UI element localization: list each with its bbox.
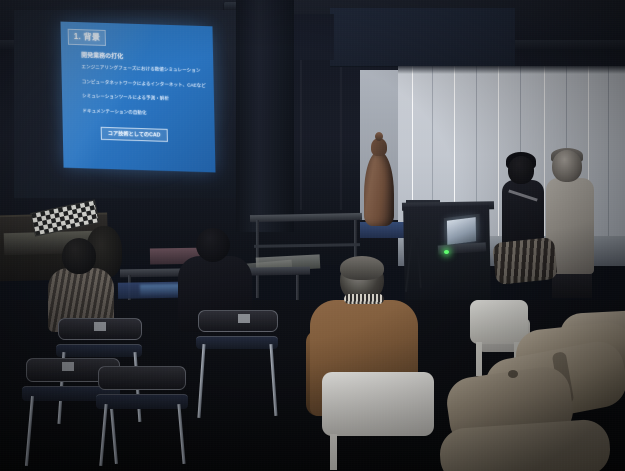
chair-leg: [330, 434, 337, 470]
chair-tag: [238, 314, 250, 323]
chair-tag: [94, 322, 106, 331]
chair-tag: [62, 362, 74, 371]
photo-scene: 1. 背景 開発業務の打化 エンジニアリングフェーズにおける数値シミュレーション…: [0, 0, 625, 471]
folding-chair-seat: [96, 394, 188, 409]
power-led-icon: [444, 250, 449, 254]
person-hair: [340, 256, 384, 280]
white-chair: [470, 300, 528, 344]
slide-bullet: コンピュータネットワークによるインターネット、CAEなど: [82, 80, 208, 89]
dark-wall-board: [330, 8, 515, 67]
person-head: [552, 150, 582, 182]
slide-bullet-list: エンジニアリングフェーズにおける数値シミュレーション コンピュータネットワークに…: [81, 65, 208, 127]
wall-panel-seam: [340, 50, 342, 210]
blinds-top-shadow: [398, 66, 625, 74]
slide-title: 1. 背景: [68, 29, 107, 46]
wall-column: [236, 0, 294, 232]
person-scarf: [344, 294, 384, 304]
slide-bullet: エンジニアリングフェーズにおける数値シミュレーション: [81, 65, 207, 74]
folding-chair-seat: [196, 336, 278, 349]
chair-leg: [476, 342, 482, 376]
projected-slide: 1. 背景 開発業務の打化 エンジニアリングフェーズにおける数値シミュレーション…: [60, 22, 215, 173]
slide-subtitle: 開発業務の打化: [81, 50, 123, 60]
patterned-bag: [492, 237, 558, 285]
slide-bullet: ドキュメンテーションの自動化: [82, 109, 208, 118]
white-chair: LIMEX: [322, 372, 434, 436]
log-knot: [508, 370, 518, 378]
dark-wall-board: [294, 14, 334, 60]
wooden-totem: [364, 152, 394, 226]
slide-bullet: シミュレーションツールによる予測・解析: [82, 94, 208, 103]
laptop-screen: [447, 217, 476, 245]
person-head: [62, 238, 96, 274]
folding-chair-back: [98, 366, 186, 390]
person-head: [508, 156, 534, 184]
person-head: [196, 228, 230, 262]
folding-chair-seat: [56, 344, 142, 357]
slide-footer-box: コア技術としてのCAD: [101, 127, 168, 142]
totem-finial: [375, 132, 383, 141]
wall-panel-seam: [300, 50, 302, 210]
